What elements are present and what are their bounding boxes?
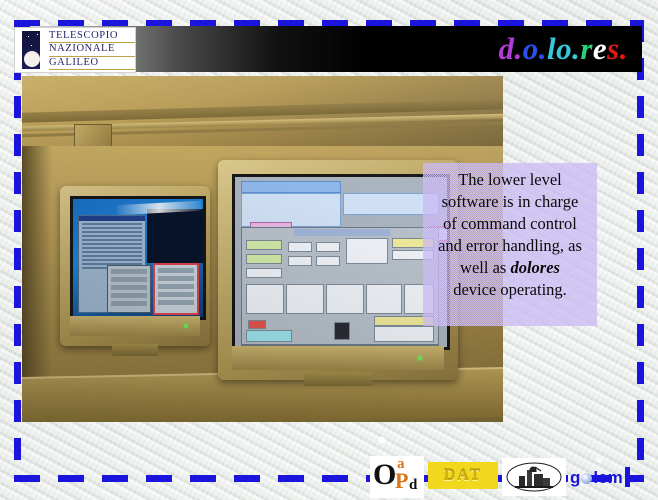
golem-logo: glem: [570, 456, 642, 498]
callout-line-5: well as dolores: [431, 257, 589, 279]
footer-logo-strip: O a P d DAT glem: [370, 456, 642, 498]
title-part-e: e: [593, 31, 607, 66]
title-part-d: d.: [498, 31, 522, 66]
tng-line-1: TELESCOPIO: [49, 30, 135, 44]
title-part-o: o.: [523, 31, 547, 66]
callout-textbox: The lower level software is in charge of…: [423, 163, 597, 326]
oapd-letter-p: P: [395, 470, 408, 492]
oapd-letter-d: d: [409, 478, 417, 493]
callout-line-2: software is in charge: [431, 191, 589, 213]
callout-emphasis-dolores: dolores: [510, 258, 560, 277]
oapd-logo: O a P d: [370, 456, 424, 498]
callout-line-6: device operating.: [431, 279, 589, 301]
title-part-r: r: [580, 31, 593, 66]
tng-line-3: GALILEO: [49, 57, 135, 71]
dashed-border-right: [637, 20, 644, 482]
slide-root: d.o.lo.res. TELESCOPIO NAZIONALE GALILEO: [0, 0, 658, 500]
title-part-lo: lo.: [547, 31, 580, 66]
tng-logo-wordmark: TELESCOPIO NAZIONALE GALILEO: [49, 30, 135, 71]
golem-gem-icon: [581, 473, 592, 484]
page-title: d.o.lo.res.: [498, 28, 628, 70]
observatory-oval-logo: [502, 458, 566, 496]
title-part-s: s.: [607, 31, 628, 66]
golem-text-after: lem: [593, 468, 622, 487]
oapd-letter-o: O: [373, 460, 396, 490]
dat-logo: DAT: [428, 462, 498, 489]
observatory-building-icon: [505, 460, 563, 494]
dashed-border-left: [14, 20, 21, 482]
dat-logo-text: DAT: [444, 467, 483, 485]
tng-line-2: NAZIONALE: [49, 43, 135, 57]
callout-line-1: The lower level: [431, 169, 589, 191]
callout-line-5-text: well as: [460, 258, 510, 277]
golem-text-before: g: [570, 468, 580, 487]
golem-bar-accent: [625, 467, 630, 487]
tng-logo: TELESCOPIO NAZIONALE GALILEO: [14, 27, 136, 73]
callout-line-3: of command control: [431, 213, 589, 235]
callout-line-4: and error handling, as: [431, 235, 589, 257]
telescope-dome-starfield-icon: [18, 31, 44, 69]
